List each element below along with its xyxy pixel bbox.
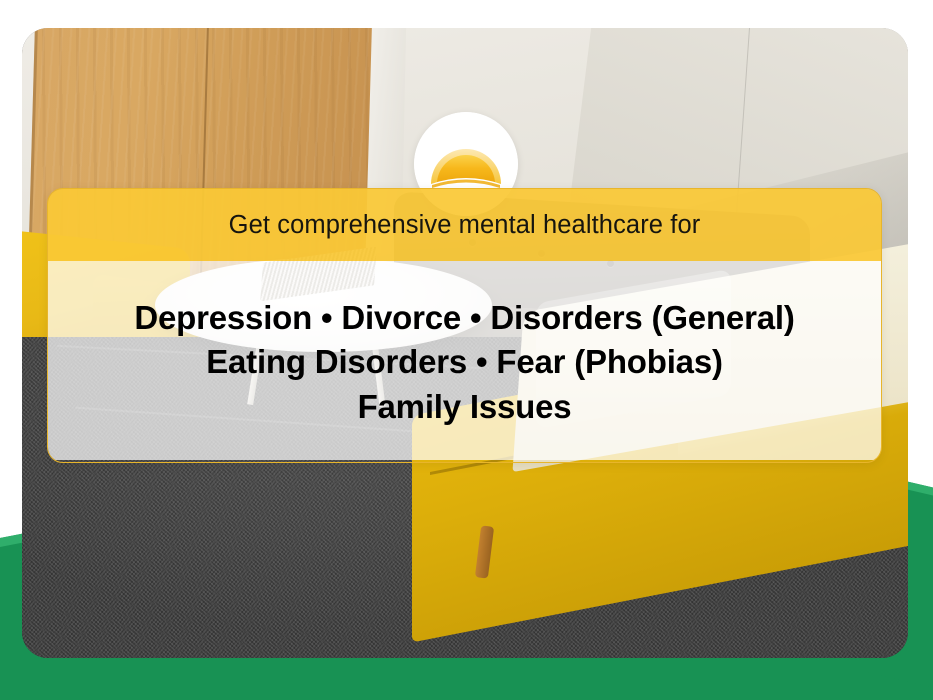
card-heading-text: Get comprehensive mental healthcare for (229, 211, 701, 240)
conditions-line-1: Depression • Divorce • Disorders (Genera… (134, 296, 794, 340)
poster-canvas: Get comprehensive mental healthcare for … (0, 0, 933, 700)
conditions-line-2: Eating Disorders • Fear (Phobias) (206, 340, 723, 384)
conditions-line-3: Family Issues (358, 385, 572, 429)
message-card: Get comprehensive mental healthcare for … (47, 188, 882, 463)
card-heading-band: Get comprehensive mental healthcare for (48, 189, 881, 261)
card-body: Depression • Divorce • Disorders (Genera… (48, 261, 881, 460)
